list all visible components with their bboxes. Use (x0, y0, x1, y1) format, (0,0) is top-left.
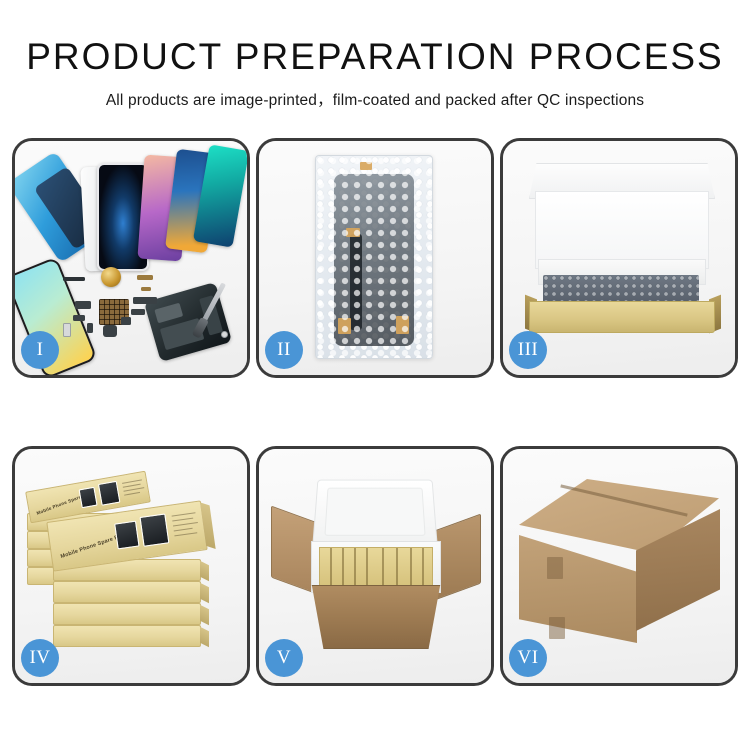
box-spec-line (172, 512, 196, 517)
part-bracket-icon (73, 315, 85, 321)
page-subtitle: All products are image-printed，film-coat… (0, 88, 750, 110)
box-spec-line (124, 492, 140, 496)
part-sim-tray-icon (63, 323, 71, 337)
step-badge-3: III (509, 331, 547, 369)
stacked-box-front-5 (53, 625, 201, 647)
step-image-3: III (503, 141, 735, 375)
box-front-panel-icon (529, 301, 715, 333)
tape-bottom-right-icon (396, 316, 409, 334)
part-connector-small-icon (141, 287, 151, 291)
tape-mid-icon (346, 228, 360, 237)
stacked-box-front-4 (53, 603, 201, 625)
step-panel-4: Mobile Phone Spare Parts (12, 446, 250, 686)
step-image-4: Mobile Phone Spare Parts (15, 449, 247, 683)
carton-tape-lower-icon (549, 617, 565, 639)
step-panel-5: V (256, 446, 494, 686)
packed-flex-cable-icon (350, 234, 362, 330)
step-badge-4: IV (21, 639, 59, 677)
step-image-1: I (15, 141, 247, 375)
box-art-phone-front-1 (114, 521, 139, 550)
part-module-icon (131, 309, 145, 315)
inner-boxes-icon (319, 547, 433, 587)
part-button-icon (87, 323, 93, 333)
header: PRODUCT PREPARATION PROCESS All products… (0, 0, 750, 110)
box-spec-line (123, 487, 144, 492)
carton-front-face-icon (519, 535, 637, 643)
carton-body-icon (303, 585, 449, 649)
step-badge-2: II (265, 331, 303, 369)
part-speaker-icon (103, 325, 117, 337)
step-panel-2: II (256, 138, 494, 378)
box-art-phone-rear-2 (98, 481, 121, 506)
carton-tape-upper-icon (547, 557, 563, 579)
step-image-2: II (259, 141, 491, 375)
part-strip-icon (63, 277, 85, 281)
step-badge-5: V (265, 639, 303, 677)
page-title: PRODUCT PREPARATION PROCESS (0, 38, 750, 77)
step-panel-6: VI (500, 446, 738, 686)
box-spec-line (172, 518, 193, 522)
step-panel-1: I (12, 138, 250, 378)
step-image-6: VI (503, 449, 735, 683)
foam-lid-icon (312, 480, 437, 545)
tape-bottom-left-icon (338, 318, 351, 334)
bubble-bag-icon (315, 155, 433, 359)
part-ribbon-icon (133, 297, 157, 304)
part-camera-icon (121, 317, 131, 325)
part-screw-icon (221, 331, 228, 338)
box-spec-line (173, 522, 198, 527)
foam-lid-inner (324, 488, 425, 536)
tape-top-icon (360, 162, 372, 170)
step-panel-3: III (500, 138, 738, 378)
gold-coil-part-icon (101, 267, 121, 287)
part-connector-icon (137, 275, 153, 280)
process-steps-grid: I II (12, 138, 738, 694)
step-badge-6: VI (509, 639, 547, 677)
step-badge-1: I (21, 331, 59, 369)
box-art-phone-front-2 (139, 513, 169, 546)
box-back-panel-icon (535, 191, 709, 269)
box-spec-line (174, 528, 193, 532)
box-spec-line (174, 532, 197, 536)
stacked-box-front-3 (53, 581, 201, 603)
part-flex-cable-icon (75, 301, 91, 309)
box-art-phone-rear-1 (79, 487, 98, 508)
step-image-5: V (259, 449, 491, 683)
infographic-page: PRODUCT PREPARATION PROCESS All products… (0, 0, 750, 750)
